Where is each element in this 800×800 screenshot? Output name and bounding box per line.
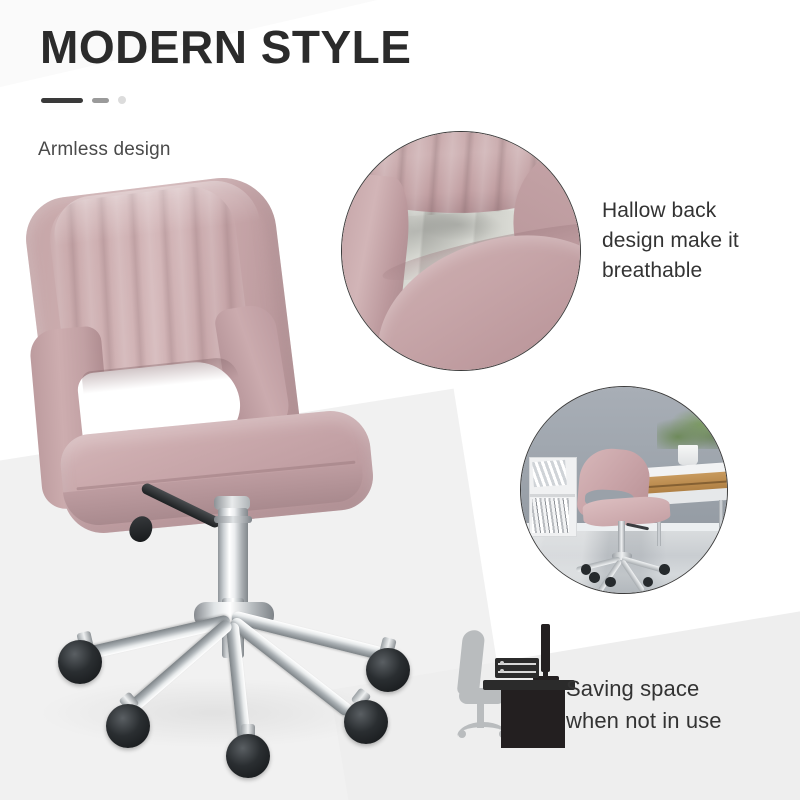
callout-hallow-back-line1: Hallow back (602, 196, 739, 226)
infographic-canvas: MODERN STYLE Armless design (0, 0, 800, 800)
caster-left-front (106, 704, 150, 748)
page-title: MODERN STYLE (40, 24, 411, 70)
room-scene-image (521, 387, 727, 593)
room-shelf-items-top (533, 460, 568, 487)
callout-hallow-back-line3: breathable (602, 256, 739, 286)
detail-circle-hollow-back (341, 131, 581, 371)
room-chair-cylinder (618, 521, 625, 556)
callout-saving-space: Saving space when not in use (566, 673, 722, 737)
icon-chair-backrest (457, 629, 486, 697)
icon-monitor-screen (541, 624, 550, 672)
room-plant-pot (678, 445, 699, 466)
desk-with-monitor-and-chair-icon (455, 612, 575, 747)
page-subtitle: Armless design (38, 139, 171, 161)
detail-circle-room-scene (520, 386, 728, 594)
gas-cylinder (218, 508, 248, 608)
callout-hallow-back-line2: design make it (602, 226, 739, 256)
caster-front (226, 734, 270, 778)
callout-saving-space-line1: Saving space (566, 673, 722, 705)
icon-desk-body (501, 690, 565, 748)
indicator-bar-active (41, 98, 83, 103)
icon-chair-wheel-left (458, 730, 466, 738)
slide-indicator (41, 96, 126, 104)
room-desk-leg-right (719, 500, 724, 549)
caster-right-back (366, 648, 410, 692)
caster-left-back (58, 640, 102, 684)
indicator-bar-inactive (92, 98, 109, 103)
callout-hallow-back: Hallow back design make it breathable (602, 196, 739, 286)
callout-saving-space-line2: when not in use (566, 705, 722, 737)
caster-right-front (344, 700, 388, 744)
room-caster-back-left (589, 572, 600, 583)
room-caster-right (659, 564, 670, 575)
icon-desk-top (483, 680, 575, 690)
icon-book-dot-1 (500, 661, 504, 665)
room-bookshelf-divider (529, 494, 574, 497)
icon-book-dot-2 (500, 669, 504, 673)
indicator-dot-inactive (118, 96, 126, 104)
room-plant-foliage (657, 408, 727, 449)
room-books (532, 498, 569, 533)
chair-floor-shadow (38, 678, 388, 748)
hollow-back-closeup-image (342, 132, 580, 370)
gas-cylinder-ring (214, 516, 252, 523)
